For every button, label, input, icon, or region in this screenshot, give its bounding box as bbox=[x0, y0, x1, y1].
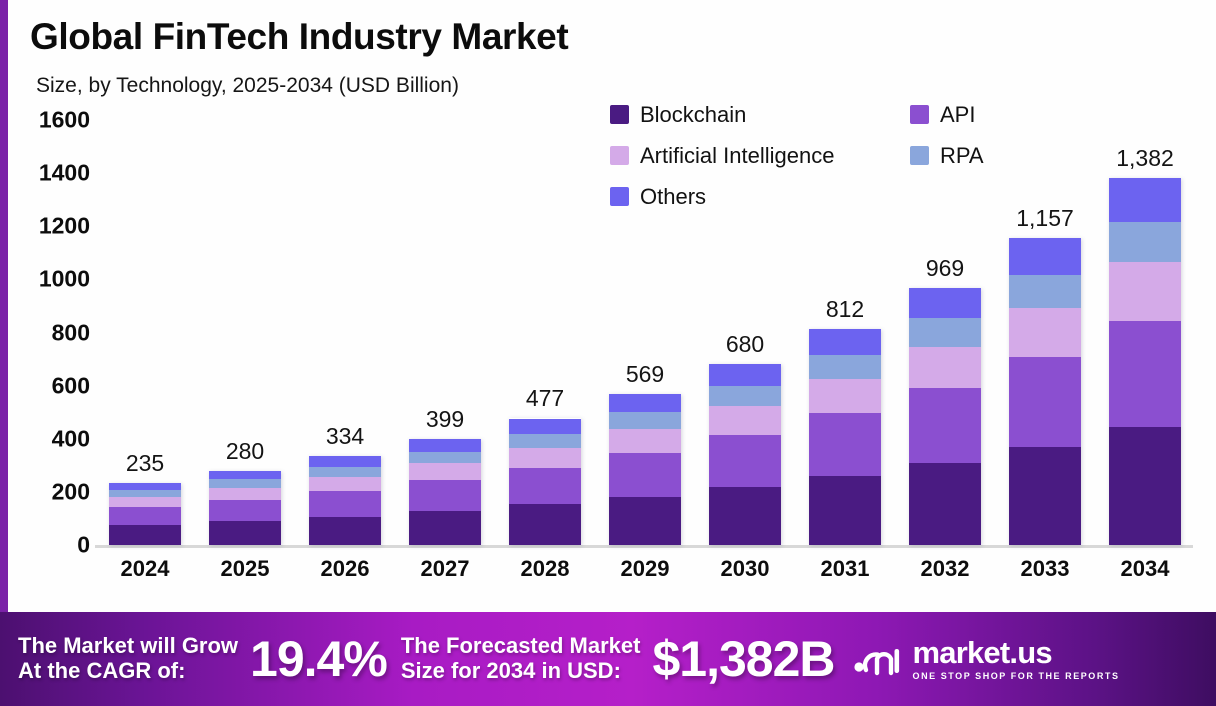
bar-value-label: 334 bbox=[326, 423, 364, 450]
bar-segment-artificial-intelligence[interactable] bbox=[609, 429, 681, 453]
y-axis-tick: 0 bbox=[77, 532, 90, 559]
bar-segment-blockchain[interactable] bbox=[809, 476, 881, 545]
bar-group-2027[interactable]: 399 bbox=[395, 120, 495, 545]
bar-segment-blockchain[interactable] bbox=[109, 525, 181, 545]
x-axis-tick-2034: 2034 bbox=[1095, 556, 1195, 592]
bar-group-2030[interactable]: 680 bbox=[695, 120, 795, 545]
stacked-bar[interactable] bbox=[609, 394, 681, 545]
market-us-logo-text: market.us ONE STOP SHOP FOR THE REPORTS bbox=[913, 637, 1120, 681]
bar-segment-others[interactable] bbox=[1009, 238, 1081, 275]
bar-segment-rpa[interactable] bbox=[109, 490, 181, 497]
x-axis-tick-2026: 2026 bbox=[295, 556, 395, 592]
bar-segment-api[interactable] bbox=[309, 491, 381, 517]
bar-segment-artificial-intelligence[interactable] bbox=[1009, 308, 1081, 357]
bar-segment-blockchain[interactable] bbox=[1009, 447, 1081, 545]
bar-value-label: 969 bbox=[926, 255, 964, 282]
x-axis-tick-2030: 2030 bbox=[695, 556, 795, 592]
x-axis-tick-2032: 2032 bbox=[895, 556, 995, 592]
bar-group-2029[interactable]: 569 bbox=[595, 120, 695, 545]
y-axis-tick: 1000 bbox=[39, 266, 90, 293]
bar-group-2031[interactable]: 812 bbox=[795, 120, 895, 545]
bar-segment-others[interactable] bbox=[409, 439, 481, 451]
bar-segment-blockchain[interactable] bbox=[909, 463, 981, 545]
bar-segment-blockchain[interactable] bbox=[709, 487, 781, 545]
logo-tagline: ONE STOP SHOP FOR THE REPORTS bbox=[913, 672, 1120, 681]
bar-segment-others[interactable] bbox=[609, 394, 681, 412]
bar-segment-api[interactable] bbox=[809, 413, 881, 476]
bar-segment-artificial-intelligence[interactable] bbox=[709, 406, 781, 435]
bar-value-label: 1,157 bbox=[1016, 205, 1074, 232]
bar-segment-rpa[interactable] bbox=[509, 434, 581, 448]
bar-segment-rpa[interactable] bbox=[909, 318, 981, 346]
y-axis: 16001400120010008006004002000 bbox=[18, 120, 90, 545]
bar-segment-others[interactable] bbox=[809, 329, 881, 355]
bar-value-label: 1,382 bbox=[1116, 145, 1174, 172]
stacked-bar[interactable] bbox=[509, 418, 581, 545]
bar-segment-api[interactable] bbox=[509, 468, 581, 505]
page-title: Global FinTech Industry Market bbox=[30, 16, 568, 58]
bottom-banner: The Market will Grow At the CAGR of: 19.… bbox=[0, 612, 1216, 706]
x-axis: 2024202520262027202820292030203120322033… bbox=[95, 556, 1195, 592]
bar-value-label: 569 bbox=[626, 361, 664, 388]
bar-segment-blockchain[interactable] bbox=[1109, 427, 1181, 545]
cagr-caption: The Market will Grow At the CAGR of: bbox=[18, 634, 238, 683]
bar-segment-blockchain[interactable] bbox=[209, 521, 281, 545]
page-subtitle: Size, by Technology, 2025-2034 (USD Bill… bbox=[36, 74, 459, 98]
x-axis-tick-2033: 2033 bbox=[995, 556, 1095, 592]
x-axis-tick-2028: 2028 bbox=[495, 556, 595, 592]
bar-value-label: 477 bbox=[526, 385, 564, 412]
bar-group-2032[interactable]: 969 bbox=[895, 120, 995, 545]
forecast-caption: The Forecasted Market Size for 2034 in U… bbox=[401, 634, 641, 683]
y-axis-tick: 1600 bbox=[39, 107, 90, 134]
x-axis-tick-2025: 2025 bbox=[195, 556, 295, 592]
bar-group-2026[interactable]: 334 bbox=[295, 120, 395, 545]
forecast-caption-line2: Size for 2034 in USD: bbox=[401, 659, 641, 684]
stacked-bar[interactable] bbox=[909, 288, 981, 545]
bar-segment-others[interactable] bbox=[909, 288, 981, 319]
stacked-bar[interactable] bbox=[209, 471, 281, 545]
y-axis-tick: 1400 bbox=[39, 160, 90, 187]
bar-segment-artificial-intelligence[interactable] bbox=[809, 379, 881, 414]
y-axis-tick: 600 bbox=[52, 372, 90, 399]
forecast-caption-line1: The Forecasted Market bbox=[401, 634, 641, 659]
bar-segment-others[interactable] bbox=[309, 456, 381, 467]
bar-segment-rpa[interactable] bbox=[409, 452, 481, 464]
stacked-bar[interactable] bbox=[809, 329, 881, 545]
bar-segment-api[interactable] bbox=[909, 388, 981, 463]
bar-segment-api[interactable] bbox=[109, 507, 181, 525]
bar-segment-blockchain[interactable] bbox=[609, 497, 681, 545]
stacked-bar[interactable] bbox=[409, 439, 481, 545]
bar-segment-others[interactable] bbox=[1109, 178, 1181, 222]
cagr-caption-line1: The Market will Grow bbox=[18, 634, 238, 659]
bar-value-label: 680 bbox=[726, 331, 764, 358]
bar-segment-api[interactable] bbox=[1109, 321, 1181, 427]
bar-group-2024[interactable]: 235 bbox=[95, 120, 195, 545]
bar-group-2034[interactable]: 1,382 bbox=[1095, 120, 1195, 545]
left-accent-stripe bbox=[0, 0, 8, 612]
bars-container: 2352803343994775696808129691,1571,382 bbox=[95, 120, 1195, 545]
x-axis-tick-2031: 2031 bbox=[795, 556, 895, 592]
bar-segment-blockchain[interactable] bbox=[509, 504, 581, 545]
bar-segment-rpa[interactable] bbox=[309, 467, 381, 477]
bar-group-2033[interactable]: 1,157 bbox=[995, 120, 1095, 545]
bar-segment-rpa[interactable] bbox=[209, 479, 281, 487]
x-axis-tick-2027: 2027 bbox=[395, 556, 495, 592]
cagr-caption-line2: At the CAGR of: bbox=[18, 659, 238, 684]
logo-wordmark: market.us bbox=[913, 637, 1120, 668]
bar-segment-artificial-intelligence[interactable] bbox=[909, 347, 981, 388]
infographic-root: Global FinTech Industry Market Size, by … bbox=[0, 0, 1216, 706]
bar-segment-others[interactable] bbox=[109, 483, 181, 490]
stacked-bar[interactable] bbox=[309, 456, 381, 545]
stacked-bar[interactable] bbox=[709, 364, 781, 545]
cagr-value: 19.4% bbox=[250, 630, 387, 688]
x-axis-line bbox=[95, 545, 1193, 548]
bar-segment-rpa[interactable] bbox=[609, 412, 681, 429]
stacked-bar[interactable] bbox=[1109, 178, 1181, 545]
bar-segment-api[interactable] bbox=[709, 435, 781, 487]
bar-segment-artificial-intelligence[interactable] bbox=[209, 488, 281, 500]
bar-segment-rpa[interactable] bbox=[1009, 275, 1081, 309]
market-us-logo-mark bbox=[853, 640, 903, 678]
y-axis-tick: 1200 bbox=[39, 213, 90, 240]
bar-segment-blockchain[interactable] bbox=[309, 517, 381, 545]
bar-segment-api[interactable] bbox=[609, 453, 681, 497]
bar-value-label: 235 bbox=[126, 450, 164, 477]
bar-segment-artificial-intelligence[interactable] bbox=[309, 477, 381, 491]
bar-group-2025[interactable]: 280 bbox=[195, 120, 295, 545]
forecast-value: $1,382B bbox=[652, 630, 834, 688]
bar-segment-blockchain[interactable] bbox=[409, 511, 481, 545]
bar-segment-api[interactable] bbox=[409, 480, 481, 511]
bar-segment-rpa[interactable] bbox=[709, 386, 781, 406]
bar-segment-others[interactable] bbox=[509, 419, 581, 434]
bar-group-2028[interactable]: 477 bbox=[495, 120, 595, 545]
bar-segment-rpa[interactable] bbox=[1109, 222, 1181, 262]
bar-segment-others[interactable] bbox=[709, 364, 781, 386]
bar-segment-artificial-intelligence[interactable] bbox=[509, 448, 581, 468]
bar-segment-api[interactable] bbox=[209, 500, 281, 522]
x-axis-tick-2024: 2024 bbox=[95, 556, 195, 592]
y-axis-tick: 800 bbox=[52, 319, 90, 346]
bar-segment-others[interactable] bbox=[209, 471, 281, 480]
stacked-bar[interactable] bbox=[109, 483, 181, 545]
bar-segment-api[interactable] bbox=[1009, 357, 1081, 446]
bar-segment-artificial-intelligence[interactable] bbox=[409, 463, 481, 480]
y-axis-tick: 400 bbox=[52, 425, 90, 452]
stacked-bar[interactable] bbox=[1009, 238, 1081, 545]
market-us-logo[interactable]: market.us ONE STOP SHOP FOR THE REPORTS bbox=[853, 637, 1120, 681]
bar-value-label: 812 bbox=[826, 296, 864, 323]
y-axis-tick: 200 bbox=[52, 478, 90, 505]
bar-value-label: 280 bbox=[226, 438, 264, 465]
bar-value-label: 399 bbox=[426, 406, 464, 433]
bar-segment-artificial-intelligence[interactable] bbox=[109, 497, 181, 507]
x-axis-tick-2029: 2029 bbox=[595, 556, 695, 592]
bar-segment-rpa[interactable] bbox=[809, 355, 881, 379]
bar-segment-artificial-intelligence[interactable] bbox=[1109, 262, 1181, 321]
